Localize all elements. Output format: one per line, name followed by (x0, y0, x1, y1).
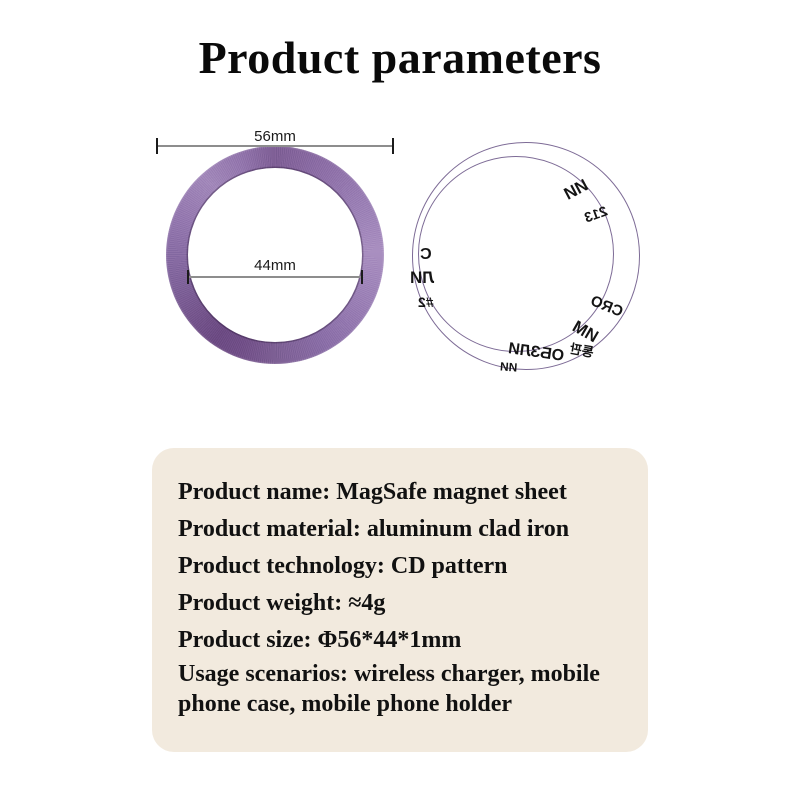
dimension-outer-label: 56mm (156, 128, 394, 145)
dimension-outer-diameter: 56mm (156, 128, 394, 162)
dimension-inner-line (189, 276, 361, 278)
dimension-inner-tick-left (187, 270, 189, 284)
backing-text-fragment: C (420, 246, 432, 264)
backing-text-fragment: ЛИ (410, 268, 434, 288)
spec-row-product-weight: Product weight: ≈4g (178, 585, 624, 622)
adhesive-ring-illustration: ИИ213CЛИ#2CROИMОБЗЛИ통판ИИ (412, 142, 644, 374)
dimension-outer-tick-right (392, 138, 394, 154)
spec-row-product-size: Product size: Φ56*44*1mm (178, 622, 624, 659)
dimension-inner-label: 44mm (187, 257, 363, 274)
backing-text-fragment: #2 (418, 294, 434, 310)
product-parameters-page: Product parameters 56mm 44mm ИИ213C (0, 0, 800, 800)
dimension-inner-tick-right (361, 270, 363, 284)
backing-text-fragment: 통판 (569, 338, 596, 361)
dimension-inner-diameter: 44mm (187, 255, 363, 289)
backing-text-fragment: ИИ (500, 359, 518, 374)
spec-row-product-material: Product material: aluminum clad iron (178, 511, 624, 548)
spec-row-product-name: Product name: MagSafe magnet sheet (178, 474, 624, 511)
specification-panel: Product name: MagSafe magnet sheetProduc… (152, 448, 648, 752)
dimension-outer-tick-left (156, 138, 158, 154)
spec-row-usage-scenarios: Usage scenarios: wireless charger, mobil… (178, 659, 624, 719)
dimension-outer-line (158, 145, 392, 147)
page-title: Product parameters (0, 31, 800, 85)
specification-list: Product name: MagSafe magnet sheetProduc… (178, 474, 624, 719)
spec-row-product-technology: Product technology: CD pattern (178, 548, 624, 585)
product-figures: 56mm 44mm ИИ213CЛИ#2CROИMОБЗЛИ통판ИИ (0, 110, 800, 410)
